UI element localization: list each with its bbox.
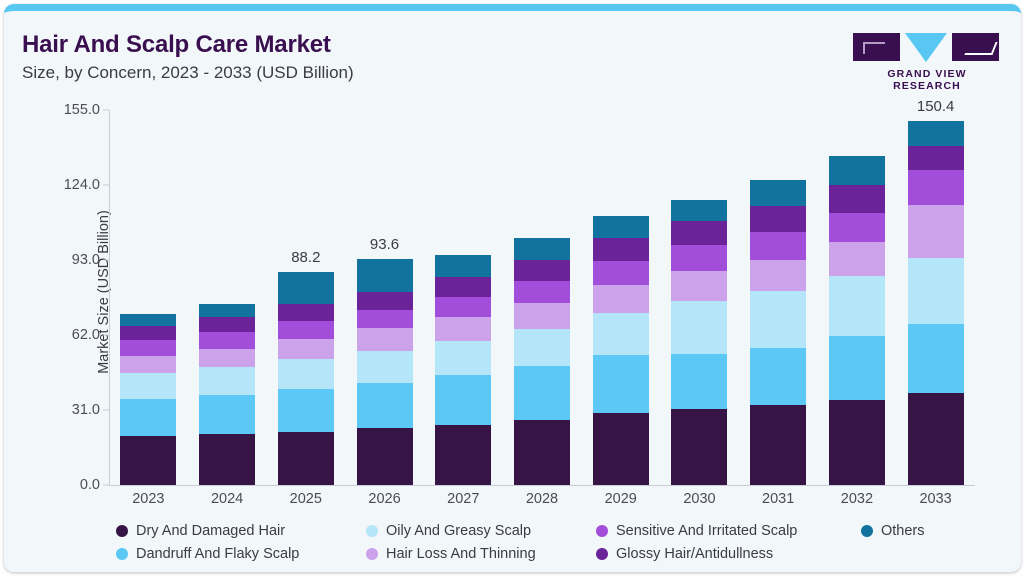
y-axis-tick-label: 124.0 xyxy=(64,177,100,193)
legend-item[interactable]: Oily And Greasy Scalp xyxy=(366,523,531,539)
legend-label: Sensitive And Irritated Scalp xyxy=(616,523,797,539)
bar-segment[interactable] xyxy=(357,351,413,383)
legend-label: Dandruff And Flaky Scalp xyxy=(136,546,299,562)
bar-segment[interactable] xyxy=(120,340,176,355)
legend-item[interactable]: Hair Loss And Thinning xyxy=(366,546,536,562)
bar-segment[interactable] xyxy=(671,245,727,271)
bar-segment[interactable] xyxy=(671,354,727,409)
bar-segment[interactable] xyxy=(514,281,570,303)
bar-segment[interactable] xyxy=(199,349,255,368)
legend-color-swatch-icon xyxy=(366,525,378,537)
logo-text: GRAND VIEW RESEARCH xyxy=(853,68,1001,92)
bar-segment[interactable] xyxy=(278,304,334,321)
bar-stack-2024[interactable] xyxy=(199,304,255,485)
bar-segment[interactable] xyxy=(278,272,334,305)
x-axis-tick-label: 2028 xyxy=(526,491,558,507)
x-axis-tick-label: 2033 xyxy=(919,491,951,507)
bar-segment[interactable] xyxy=(357,383,413,429)
bar-series-container: 88.293.6150.4 xyxy=(109,110,975,485)
y-axis-tick-label: 62.0 xyxy=(72,327,100,343)
bar-segment[interactable] xyxy=(199,317,255,332)
bar-segment[interactable] xyxy=(750,405,806,485)
bar-segment[interactable] xyxy=(120,399,176,435)
bar-segment[interactable] xyxy=(199,395,255,434)
bar-value-label: 93.6 xyxy=(370,236,399,253)
x-axis-tick-label: 2023 xyxy=(132,491,164,507)
bar-segment[interactable] xyxy=(278,321,334,339)
x-axis-tick-label: 2026 xyxy=(368,491,400,507)
bar-segment[interactable] xyxy=(829,156,885,185)
logo-box-left-icon xyxy=(853,33,900,61)
bar-segment[interactable] xyxy=(593,285,649,313)
bar-segment[interactable] xyxy=(278,432,334,485)
bar-segment[interactable] xyxy=(593,238,649,261)
bar-segment[interactable] xyxy=(514,303,570,329)
bar-segment[interactable] xyxy=(514,420,570,485)
bar-stack-2029[interactable] xyxy=(593,216,649,485)
bar-segment[interactable] xyxy=(750,232,806,259)
y-axis-tick-label: 155.0 xyxy=(64,102,100,118)
legend-label: Glossy Hair/Antidullness xyxy=(616,546,773,562)
bar-segment[interactable] xyxy=(750,180,806,206)
legend-label: Dry And Damaged Hair xyxy=(136,523,285,539)
bar-segment[interactable] xyxy=(829,242,885,276)
x-axis-tick-label: 2031 xyxy=(762,491,794,507)
bar-segment[interactable] xyxy=(829,276,885,336)
chart-legend: Dry And Damaged HairOily And Greasy Scal… xyxy=(116,523,966,572)
legend-color-swatch-icon xyxy=(861,525,873,537)
bar-segment[interactable] xyxy=(908,205,964,258)
bar-stack-2027[interactable] xyxy=(435,255,491,485)
bar-segment[interactable] xyxy=(593,261,649,285)
bar-segment[interactable] xyxy=(829,400,885,485)
bar-segment[interactable] xyxy=(357,259,413,292)
bar-segment[interactable] xyxy=(750,206,806,232)
bar-segment[interactable] xyxy=(593,313,649,354)
chart-header: Hair And Scalp Care Market Size, by Conc… xyxy=(4,11,1021,91)
bar-segment[interactable] xyxy=(435,277,491,296)
legend-label: Others xyxy=(881,523,925,539)
bar-segment[interactable] xyxy=(514,260,570,281)
bar-stack-2031[interactable] xyxy=(750,180,806,485)
x-axis-tick-label: 2027 xyxy=(447,491,479,507)
legend-item[interactable]: Dandruff And Flaky Scalp xyxy=(116,546,299,562)
bar-segment[interactable] xyxy=(278,339,334,360)
bar-segment[interactable] xyxy=(671,271,727,301)
bar-segment[interactable] xyxy=(750,348,806,405)
bar-stack-2033[interactable]: 150.4 xyxy=(908,121,964,485)
bar-segment[interactable] xyxy=(357,292,413,310)
legend-item[interactable]: Others xyxy=(861,523,925,539)
legend-item[interactable]: Glossy Hair/Antidullness xyxy=(596,546,773,562)
legend-label: Hair Loss And Thinning xyxy=(386,546,536,562)
legend-item[interactable]: Sensitive And Irritated Scalp xyxy=(596,523,797,539)
bar-segment[interactable] xyxy=(120,356,176,374)
bar-segment[interactable] xyxy=(593,216,649,239)
bar-segment[interactable] xyxy=(199,367,255,395)
bar-segment[interactable] xyxy=(199,304,255,317)
grand-view-research-logo: GRAND VIEW RESEARCH xyxy=(853,33,1001,81)
bar-segment[interactable] xyxy=(357,310,413,329)
bar-segment[interactable] xyxy=(750,291,806,348)
bar-stack-2032[interactable] xyxy=(829,156,885,485)
bar-segment[interactable] xyxy=(908,324,964,393)
x-axis-tick-label: 2029 xyxy=(605,491,637,507)
x-axis-tick-label: 2030 xyxy=(683,491,715,507)
bar-segment[interactable] xyxy=(593,355,649,414)
bar-segment[interactable] xyxy=(357,328,413,350)
legend-color-swatch-icon xyxy=(366,548,378,560)
bar-segment[interactable] xyxy=(829,213,885,242)
page-title: Hair And Scalp Care Market xyxy=(22,31,331,59)
bar-segment[interactable] xyxy=(199,434,255,485)
legend-label: Oily And Greasy Scalp xyxy=(386,523,531,539)
bar-segment[interactable] xyxy=(908,121,964,146)
bar-stack-2028[interactable] xyxy=(514,238,570,485)
bar-segment[interactable] xyxy=(514,366,570,419)
bar-segment[interactable] xyxy=(435,341,491,376)
bar-segment[interactable] xyxy=(435,375,491,424)
bar-segment[interactable] xyxy=(435,297,491,317)
bar-segment[interactable] xyxy=(120,373,176,399)
bar-segment[interactable] xyxy=(908,146,964,170)
bar-stack-2026[interactable]: 93.6 xyxy=(357,259,413,485)
bar-segment[interactable] xyxy=(357,428,413,485)
bar-segment[interactable] xyxy=(671,200,727,221)
logo-mark xyxy=(853,33,1001,63)
x-axis-line xyxy=(109,485,975,486)
bar-segment[interactable] xyxy=(435,255,491,277)
bar-stack-2025[interactable]: 88.2 xyxy=(278,272,334,485)
bar-segment[interactable] xyxy=(435,317,491,341)
bar-stack-2023[interactable] xyxy=(120,314,176,485)
bar-segment[interactable] xyxy=(908,170,964,205)
x-axis-tick-label: 2024 xyxy=(211,491,243,507)
legend-color-swatch-icon xyxy=(116,548,128,560)
bar-segment[interactable] xyxy=(593,413,649,485)
bar-segment[interactable] xyxy=(120,436,176,485)
bar-segment[interactable] xyxy=(514,329,570,367)
bar-segment[interactable] xyxy=(120,326,176,341)
chart-card: Hair And Scalp Care Market Size, by Conc… xyxy=(4,4,1021,572)
bar-segment[interactable] xyxy=(750,260,806,292)
legend-color-swatch-icon xyxy=(596,548,608,560)
chart-subtitle: Size, by Concern, 2023 - 2033 (USD Billi… xyxy=(22,63,354,83)
legend-color-swatch-icon xyxy=(596,525,608,537)
x-axis-tick-label: 2032 xyxy=(841,491,873,507)
bar-value-label: 88.2 xyxy=(291,249,320,266)
logo-box-right-icon xyxy=(952,33,999,61)
bar-segment[interactable] xyxy=(671,409,727,485)
y-axis-tick-label: 0.0 xyxy=(80,477,100,493)
logo-triangle-icon xyxy=(905,33,947,62)
bar-segment[interactable] xyxy=(199,332,255,348)
legend-item[interactable]: Dry And Damaged Hair xyxy=(116,523,285,539)
bar-segment[interactable] xyxy=(908,393,964,485)
bar-segment[interactable] xyxy=(671,221,727,245)
y-axis-tick-label: 31.0 xyxy=(72,402,100,418)
bar-segment[interactable] xyxy=(829,336,885,400)
y-axis-tick-label: 93.0 xyxy=(72,252,100,268)
plot-area: 0.031.062.093.0124.0155.0 88.293.6150.4 xyxy=(109,110,975,485)
bar-segment[interactable] xyxy=(278,389,334,431)
bar-segment[interactable] xyxy=(671,301,727,354)
bar-segment[interactable] xyxy=(435,425,491,485)
bar-segment[interactable] xyxy=(514,238,570,260)
x-axis-tick-label: 2025 xyxy=(290,491,322,507)
bar-segment[interactable] xyxy=(829,185,885,213)
bar-value-label: 150.4 xyxy=(917,98,955,115)
bar-stack-2030[interactable] xyxy=(671,200,727,485)
bar-segment[interactable] xyxy=(278,359,334,389)
bar-segment[interactable] xyxy=(120,314,176,326)
legend-color-swatch-icon xyxy=(116,525,128,537)
bar-segment[interactable] xyxy=(908,258,964,324)
